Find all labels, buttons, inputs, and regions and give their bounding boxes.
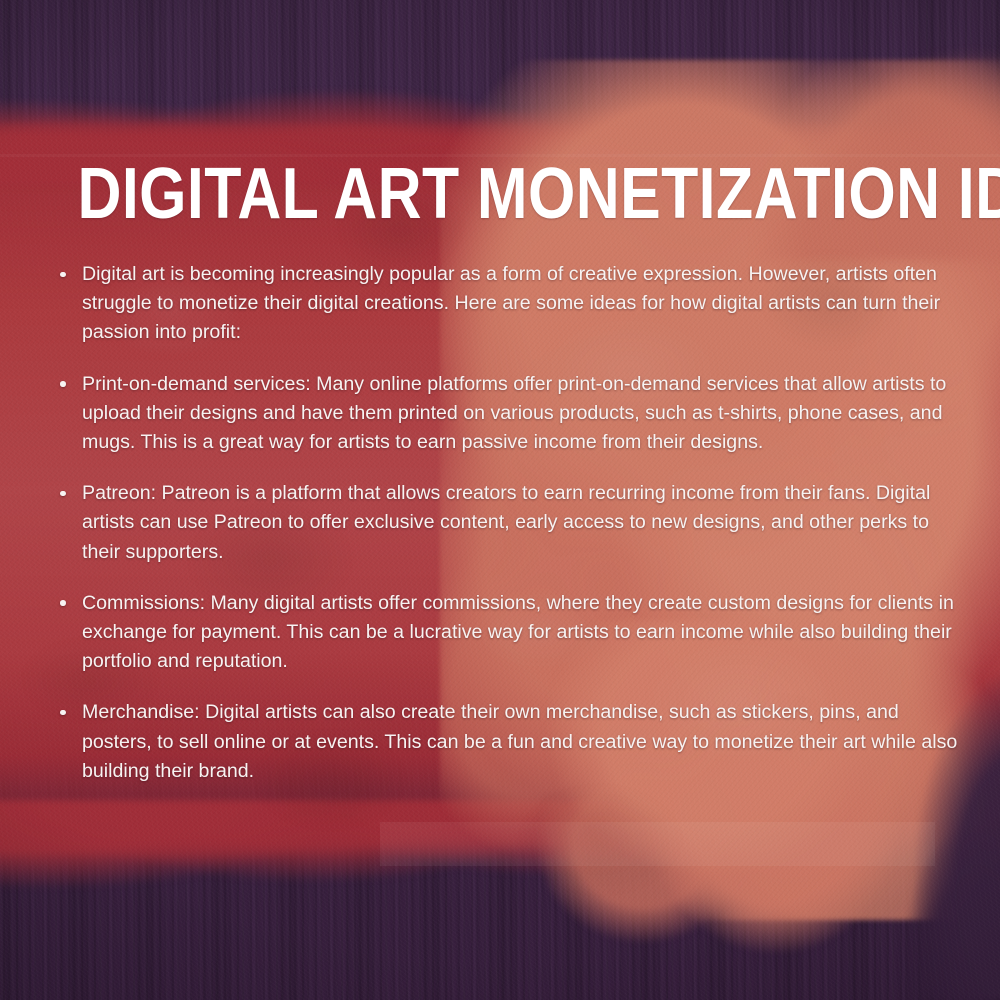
bullet-dot-icon bbox=[60, 600, 66, 606]
list-item: Print-on-demand services: Many online pl… bbox=[52, 370, 958, 458]
list-item-text: Print-on-demand services: Many online pl… bbox=[82, 370, 958, 458]
list-item: Merchandise: Digital artists can also cr… bbox=[52, 698, 958, 786]
list-item: Commissions: Many digital artists offer … bbox=[52, 589, 958, 677]
ideas-bullet-list: Digital art is becoming increasingly pop… bbox=[52, 260, 958, 786]
bullet-dot-icon bbox=[60, 491, 66, 497]
bullet-dot-icon bbox=[60, 272, 66, 278]
page-title: DIGITAL ART MONETIZATION IDEAS bbox=[78, 160, 923, 228]
poster-content: DIGITAL ART MONETIZATION IDEAS Digital a… bbox=[0, 0, 1000, 1000]
list-item-text: Digital art is becoming increasingly pop… bbox=[82, 260, 958, 348]
bullet-dot-icon bbox=[60, 381, 66, 387]
poster-canvas: DIGITAL ART MONETIZATION IDEAS Digital a… bbox=[0, 0, 1000, 1000]
list-item: Digital art is becoming increasingly pop… bbox=[52, 260, 958, 348]
list-item: Patreon: Patreon is a platform that allo… bbox=[52, 479, 958, 567]
list-item-text: Commissions: Many digital artists offer … bbox=[82, 589, 958, 677]
bullet-dot-icon bbox=[60, 710, 66, 716]
list-item-text: Patreon: Patreon is a platform that allo… bbox=[82, 479, 958, 567]
list-item-text: Merchandise: Digital artists can also cr… bbox=[82, 698, 958, 786]
